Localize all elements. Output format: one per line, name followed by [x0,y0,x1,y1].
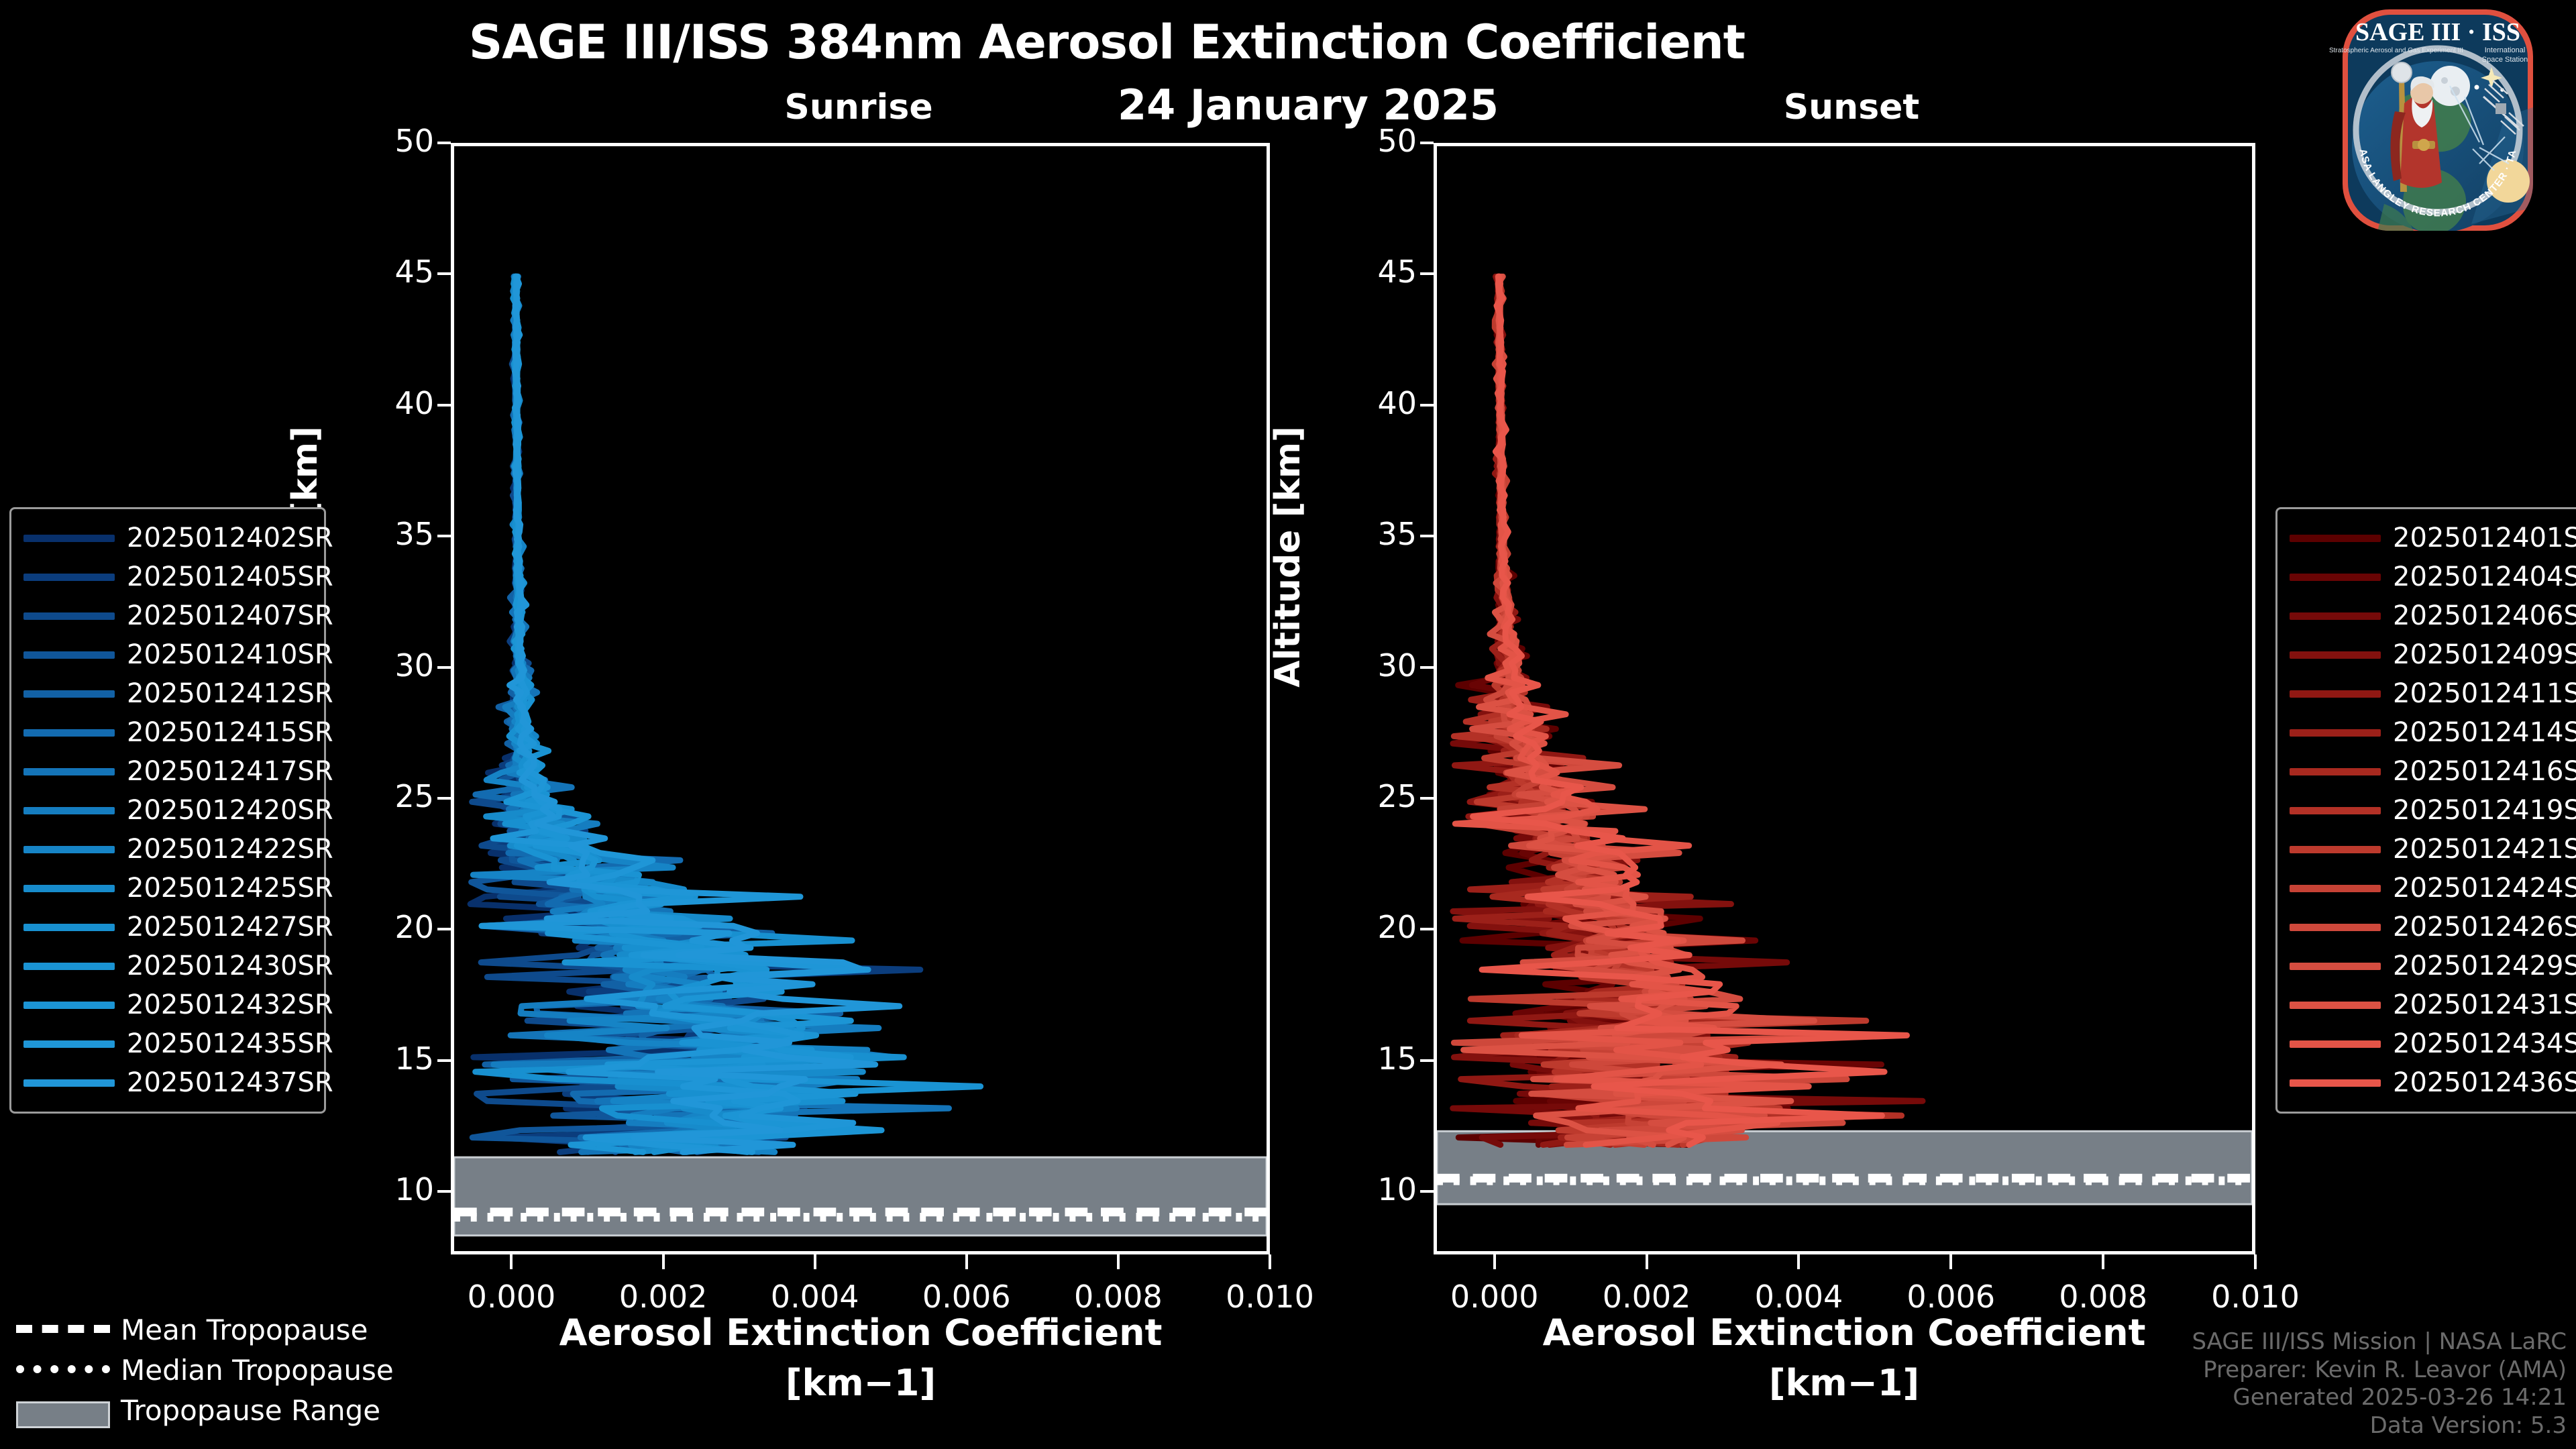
dashed-line-key-icon [16,1321,110,1338]
legend-event-label: 2025012421SS [2393,834,2576,865]
x-tick-mark [1117,1254,1120,1269]
y-tick-label: 40 [333,385,434,421]
legend-event-label: 2025012435SR [127,1028,333,1059]
legend-event-label: 2025012422SR [127,834,333,865]
legend-color-swatch [2290,885,2381,892]
legend-event-label: 2025012425SR [127,873,333,904]
x-tick-label: 0.000 [1407,1279,1582,1315]
y-tick-label: 50 [1316,123,1417,159]
legend-color-swatch [2290,574,2381,581]
y-tick-mark [1420,797,1434,800]
legend-item-tropopause-range: Tropopause Range [16,1390,365,1430]
x-tick-mark [1797,1254,1800,1269]
legend-item-mean-tropopause: Mean Tropopause [16,1309,365,1350]
legend-event-label: 2025012411SS [2393,678,2576,709]
sunset-profile-canvas [1437,146,2252,1251]
legend-color-swatch [2290,807,2381,814]
legend-color-swatch [23,963,115,970]
legend-item[interactable]: 2025012432SR [23,985,312,1024]
legend-item[interactable]: 2025012405SR [23,557,312,596]
y-tick-label: 20 [1316,909,1417,945]
legend-event-label: 2025012416SS [2393,756,2576,787]
x-tick-mark [814,1254,816,1269]
legend-color-swatch [23,885,115,892]
sunrise-x-axis-label: Aerosol Extinction Coefficient [448,1311,1273,1354]
y-tick-mark [1420,404,1434,407]
x-tick-label: 0.010 [1183,1279,1357,1315]
dotted-line-key-icon [16,1361,110,1379]
patch-subtitle-left: Stratospheric Aerosol and Gas Experiment… [2329,47,2463,54]
legend-color-swatch [2290,1040,2381,1048]
legend-event-label: 2025012401SS [2393,523,2576,553]
y-tick-label: 50 [333,123,434,159]
legend-event-label: 2025012409SS [2393,639,2576,670]
legend-color-swatch [2290,846,2381,853]
sunrise-profile-canvas [454,146,1267,1251]
legend-color-swatch [2290,651,2381,659]
x-tick-label: 0.004 [728,1279,902,1315]
tropopause-range-label: Tropopause Range [121,1394,380,1427]
patch-subtitle-right-1: International [2485,46,2526,54]
legend-item[interactable]: 2025012412SR [23,674,312,713]
credits-line-version: Data Version: 5.3 [2192,1412,2567,1440]
x-tick-label: 0.008 [1031,1279,1205,1315]
sunrise-legend[interactable]: 2025012402SR2025012405SR2025012407SR2025… [9,507,326,1114]
legend-item[interactable]: 2025012435SR [23,1024,312,1063]
y-tick-mark [1420,142,1434,144]
y-tick-label: 10 [333,1171,434,1207]
sunrise-x-axis-unit: [km−1] [448,1362,1273,1404]
y-tick-mark [437,1190,451,1193]
y-tick-mark [1420,1190,1434,1193]
sunset-plot-area [1434,143,2255,1254]
sunrise-panel-title: Sunrise [671,87,1046,127]
legend-event-label: 2025012429SS [2393,951,2576,981]
legend-item[interactable]: 2025012407SR [23,596,312,635]
y-tick-mark [1420,535,1434,537]
legend-item[interactable]: 2025012410SR [23,635,312,674]
legend-item[interactable]: 2025012437SR [23,1063,312,1102]
legend-event-label: 2025012415SR [127,717,333,748]
y-tick-label: 35 [333,516,434,552]
page-title: SAGE III/ISS 384nm Aerosol Extinction Co… [0,15,2214,70]
legend-event-label: 2025012420SR [127,795,333,826]
legend-item[interactable]: 2025012425SR [23,869,312,908]
legend-event-label: 2025012426SS [2393,912,2576,943]
tropopause-legend: Mean Tropopause Median Tropopause Tropop… [16,1309,365,1430]
legend-item[interactable]: 2025012414SS [2290,713,2576,752]
y-tick-mark [437,272,451,275]
sage-iii-iss-mission-patch-icon: SAGE III · ISS Stratospheric Aerosol and… [2304,3,2572,237]
legend-item[interactable]: 2025012419SS [2290,791,2576,830]
legend-event-label: 2025012410SR [127,639,333,670]
y-tick-mark [437,928,451,930]
sunset-y-axis-label: Altitude [km] [1268,382,1308,731]
sunset-panel-title: Sunset [1664,87,2039,127]
legend-item[interactable]: 2025012427SR [23,908,312,947]
sunset-legend[interactable]: 2025012401SS2025012404SS2025012406SS2025… [2275,507,2576,1114]
legend-item[interactable]: 2025012436SS [2290,1063,2576,1102]
legend-event-label: 2025012402SR [127,523,333,553]
legend-color-swatch [2290,924,2381,931]
legend-color-swatch [23,612,115,620]
legend-event-label: 2025012404SS [2393,561,2576,592]
y-tick-label: 30 [1316,647,1417,684]
legend-event-label: 2025012405SR [127,561,333,592]
legend-event-label: 2025012432SR [127,989,333,1020]
y-tick-mark [437,535,451,537]
legend-color-swatch [2290,963,2381,970]
legend-event-label: 2025012424SS [2393,873,2576,904]
y-tick-mark [437,666,451,669]
legend-item[interactable]: 2025012430SR [23,947,312,985]
legend-color-swatch [2290,1002,2381,1009]
legend-event-label: 2025012430SR [127,951,333,981]
sunrise-plot-area [451,143,1270,1254]
y-tick-mark [1420,272,1434,275]
sunset-x-axis-unit: [km−1] [1432,1362,2257,1404]
x-tick-mark [2254,1254,2257,1269]
x-tick-mark [1646,1254,1648,1269]
legend-item[interactable]: 2025012409SS [2290,635,2576,674]
tropopause-range-band [454,1157,1267,1236]
legend-item[interactable]: 2025012415SR [23,713,312,752]
legend-item[interactable]: 2025012420SR [23,791,312,830]
y-tick-label: 45 [333,254,434,290]
legend-item[interactable]: 2025012417SR [23,752,312,791]
y-tick-label: 20 [333,909,434,945]
legend-event-label: 2025012417SR [127,756,333,787]
legend-item[interactable]: 2025012406SS [2290,596,2576,635]
legend-color-swatch [2290,1079,2381,1087]
y-tick-mark [437,797,451,800]
legend-item[interactable]: 2025012429SS [2290,947,2576,985]
legend-item[interactable]: 2025012402SR [23,519,312,557]
legend-item[interactable]: 2025012421SS [2290,830,2576,869]
y-tick-label: 40 [1316,385,1417,421]
legend-color-swatch [23,924,115,931]
legend-event-label: 2025012427SR [127,912,333,943]
legend-item[interactable]: 2025012416SS [2290,752,2576,791]
legend-color-swatch [23,690,115,698]
credits-line-mission: SAGE III/ISS Mission | NASA LaRC [2192,1328,2567,1356]
x-tick-mark [1493,1254,1496,1269]
patch-subtitle-right-2: Space Station [2482,56,2528,64]
legend-event-label: 2025012431SS [2393,989,2576,1020]
y-tick-mark [1420,666,1434,669]
legend-item-median-tropopause: Median Tropopause [16,1350,365,1390]
legend-color-swatch [2290,768,2381,775]
y-tick-label: 25 [333,778,434,814]
y-tick-label: 45 [1316,254,1417,290]
legend-color-swatch [23,1002,115,1009]
legend-color-swatch [2290,535,2381,542]
x-tick-mark [2102,1254,2104,1269]
y-tick-mark [1420,928,1434,930]
y-tick-label: 15 [1316,1040,1417,1077]
legend-color-swatch [2290,690,2381,698]
y-tick-mark [437,142,451,144]
median-tropopause-label: Median Tropopause [121,1354,394,1387]
legend-color-swatch [23,768,115,775]
x-tick-label: 0.002 [1560,1279,1734,1315]
legend-item[interactable]: 2025012404SS [2290,557,2576,596]
legend-event-label: 2025012436SS [2393,1067,2576,1098]
x-tick-label: 0.002 [576,1279,751,1315]
credits-line-preparer: Preparer: Kevin R. Leavor (AMA) [2192,1356,2567,1384]
x-tick-label: 0.006 [1864,1279,2038,1315]
legend-event-label: 2025012406SS [2393,600,2576,631]
y-tick-label: 10 [1316,1171,1417,1207]
y-tick-mark [437,404,451,407]
legend-item[interactable]: 2025012426SS [2290,908,2576,947]
x-tick-label: 0.004 [1711,1279,1886,1315]
legend-item[interactable]: 2025012434SS [2290,1024,2576,1063]
legend-color-swatch [23,574,115,581]
legend-item[interactable]: 2025012411SS [2290,674,2576,713]
x-tick-mark [510,1254,513,1269]
legend-event-label: 2025012419SS [2393,795,2576,826]
legend-event-label: 2025012434SS [2393,1028,2576,1059]
y-tick-label: 30 [333,647,434,684]
legend-color-swatch [23,807,115,814]
legend-color-swatch [23,1079,115,1087]
legend-item[interactable]: 2025012422SR [23,830,312,869]
legend-event-label: 2025012414SS [2393,717,2576,748]
x-tick-label: 0.000 [424,1279,598,1315]
x-tick-label: 0.010 [2168,1279,2343,1315]
credits-line-generated: Generated 2025-03-26 14:21 [2192,1384,2567,1411]
x-tick-mark [965,1254,968,1269]
legend-color-swatch [23,846,115,853]
legend-item[interactable]: 2025012431SS [2290,985,2576,1024]
y-tick-mark [437,1059,451,1062]
legend-event-label: 2025012437SR [127,1067,333,1098]
sunset-x-axis-label: Aerosol Extinction Coefficient [1432,1311,2257,1354]
y-tick-label: 25 [1316,778,1417,814]
legend-item[interactable]: 2025012401SS [2290,519,2576,557]
y-tick-label: 15 [333,1040,434,1077]
legend-color-swatch [23,729,115,737]
legend-color-swatch [23,535,115,542]
x-tick-label: 0.008 [2016,1279,2190,1315]
legend-color-swatch [23,1040,115,1048]
x-tick-mark [662,1254,665,1269]
legend-item[interactable]: 2025012424SS [2290,869,2576,908]
x-tick-label: 0.006 [879,1279,1054,1315]
y-tick-mark [1420,1059,1434,1062]
legend-color-swatch [23,651,115,659]
x-tick-mark [1949,1254,1952,1269]
mean-tropopause-label: Mean Tropopause [121,1313,368,1346]
credits-block: SAGE III/ISS Mission | NASA LaRC Prepare… [2192,1328,2567,1440]
legend-event-label: 2025012407SR [127,600,333,631]
x-tick-mark [1269,1254,1271,1269]
y-tick-label: 35 [1316,516,1417,552]
filled-band-key-icon [16,1401,110,1419]
legend-color-swatch [2290,612,2381,620]
patch-title: SAGE III · ISS [2355,18,2520,46]
legend-event-label: 2025012412SR [127,678,333,709]
legend-color-swatch [2290,729,2381,737]
